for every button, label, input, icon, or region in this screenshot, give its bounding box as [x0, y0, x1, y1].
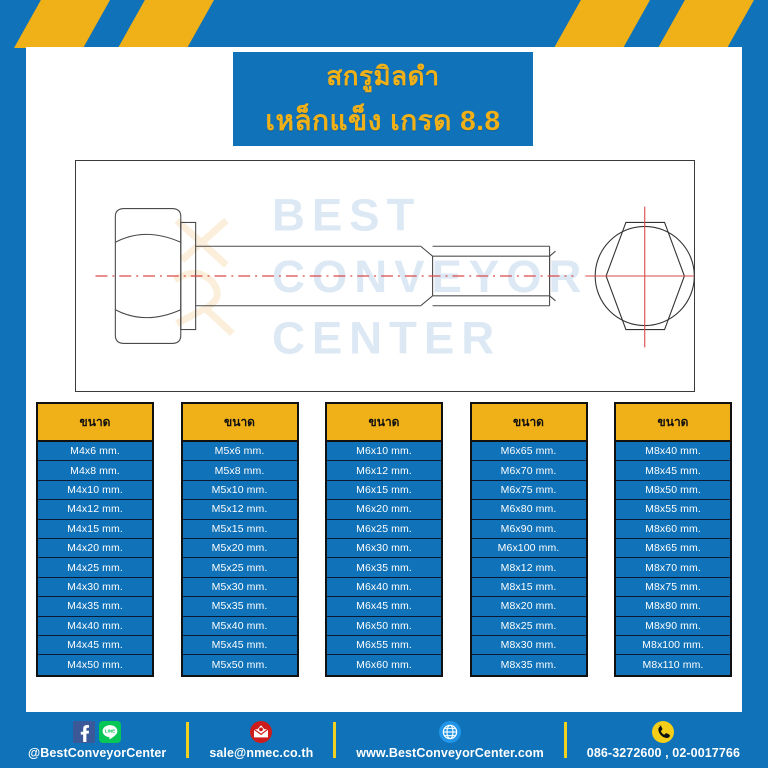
svg-text:LINE: LINE: [105, 728, 115, 733]
size-cell[interactable]: M6x25 mm.: [327, 520, 441, 539]
globe-icon[interactable]: [438, 720, 462, 744]
svg-text:CENTER: CENTER: [272, 312, 501, 363]
size-cell[interactable]: M5x10 mm.: [183, 481, 297, 500]
size-cell[interactable]: M5x8 mm.: [183, 461, 297, 480]
email-address-label[interactable]: sale@nmec.co.th: [209, 746, 313, 760]
size-cell[interactable]: M5x25 mm.: [183, 558, 297, 577]
size-cell[interactable]: M6x12 mm.: [327, 461, 441, 480]
size-table-4: ขนาด M6x65 mm. M6x70 mm. M6x75 mm. M6x80…: [470, 402, 588, 677]
column-header: ขนาด: [470, 402, 588, 442]
size-cell[interactable]: M8x70 mm.: [616, 558, 730, 577]
size-cell[interactable]: M8x60 mm.: [616, 520, 730, 539]
size-table-5: ขนาด M8x40 mm. M8x45 mm. M8x50 mm. M8x55…: [614, 402, 732, 677]
size-cell[interactable]: M6x55 mm.: [327, 636, 441, 655]
size-cell[interactable]: M6x40 mm.: [327, 578, 441, 597]
size-cell[interactable]: M6x75 mm.: [472, 481, 586, 500]
facebook-icon[interactable]: [73, 721, 95, 743]
chevron-stripe-top-left-2: [118, 0, 214, 48]
size-cell[interactable]: M5x30 mm.: [183, 578, 297, 597]
size-cell[interactable]: M4x30 mm.: [38, 578, 152, 597]
chevron-stripe-top-right-2: [554, 0, 650, 48]
size-cell[interactable]: M4x6 mm.: [38, 442, 152, 461]
size-cell[interactable]: M8x15 mm.: [472, 578, 586, 597]
title-banner: สกรูมิลดำ เหล็กแข็ง เกรด 8.8: [233, 52, 533, 146]
size-cell[interactable]: M4x50 mm.: [38, 655, 152, 674]
size-cell[interactable]: M6x90 mm.: [472, 520, 586, 539]
size-cell[interactable]: M5x35 mm.: [183, 597, 297, 616]
size-table-1: ขนาด M4x6 mm. M4x8 mm. M4x10 mm. M4x12 m…: [36, 402, 154, 677]
page-title-line1: สกรูมิลดำ: [326, 56, 439, 97]
footer-social-group: LINE @BestConveyorCenter: [8, 720, 186, 760]
phone-icon[interactable]: [651, 720, 675, 744]
size-cell[interactable]: M5x45 mm.: [183, 636, 297, 655]
footer-phone-group: 086-3272600 , 02-0017766: [567, 720, 760, 760]
size-cell[interactable]: M8x35 mm.: [472, 655, 586, 674]
size-cell[interactable]: M5x12 mm.: [183, 500, 297, 519]
column-header: ขนาด: [614, 402, 732, 442]
size-cell[interactable]: M4x25 mm.: [38, 558, 152, 577]
size-cell[interactable]: M8x100 mm.: [616, 636, 730, 655]
size-cell[interactable]: M5x15 mm.: [183, 520, 297, 539]
size-cell[interactable]: M6x70 mm.: [472, 461, 586, 480]
size-cell[interactable]: M4x45 mm.: [38, 636, 152, 655]
logo-watermark: [175, 220, 233, 333]
size-cell[interactable]: M8x50 mm.: [616, 481, 730, 500]
size-cell[interactable]: M6x30 mm.: [327, 539, 441, 558]
chevron-stripe-top-left-1: [14, 0, 110, 48]
size-cell[interactable]: M5x20 mm.: [183, 539, 297, 558]
facebook-handle-label[interactable]: @BestConveyorCenter: [28, 746, 166, 760]
size-cell[interactable]: M6x60 mm.: [327, 655, 441, 674]
size-cell[interactable]: M6x80 mm.: [472, 500, 586, 519]
size-cell[interactable]: M8x25 mm.: [472, 617, 586, 636]
size-cell[interactable]: M4x8 mm.: [38, 461, 152, 480]
size-cell[interactable]: M8x75 mm.: [616, 578, 730, 597]
column-body: M5x6 mm. M5x8 mm. M5x10 mm. M5x12 mm. M5…: [181, 442, 299, 677]
size-cell[interactable]: M5x6 mm.: [183, 442, 297, 461]
column-body: M6x65 mm. M6x70 mm. M6x75 mm. M6x80 mm. …: [470, 442, 588, 677]
size-cell[interactable]: M6x100 mm.: [472, 539, 586, 558]
technical-drawing-frame: BEST CONVEYOR CENTER: [75, 160, 695, 392]
website-url-label[interactable]: www.BestConveyorCenter.com: [356, 746, 544, 760]
size-cell[interactable]: M6x50 mm.: [327, 617, 441, 636]
phone-number-label[interactable]: 086-3272600 , 02-0017766: [587, 746, 740, 760]
size-tables: ขนาด M4x6 mm. M4x8 mm. M4x10 mm. M4x12 m…: [36, 402, 732, 677]
column-body: M4x6 mm. M4x8 mm. M4x10 mm. M4x12 mm. M4…: [36, 442, 154, 677]
size-cell[interactable]: M8x90 mm.: [616, 617, 730, 636]
column-header: ขนาด: [181, 402, 299, 442]
size-cell[interactable]: M8x12 mm.: [472, 558, 586, 577]
size-cell[interactable]: M8x40 mm.: [616, 442, 730, 461]
column-body: M8x40 mm. M8x45 mm. M8x50 mm. M8x55 mm. …: [614, 442, 732, 677]
footer-website-group: www.BestConveyorCenter.com: [336, 720, 564, 760]
size-cell[interactable]: M4x40 mm.: [38, 617, 152, 636]
contact-footer: LINE @BestConveyorCenter: [0, 712, 768, 768]
svg-text:BEST: BEST: [272, 189, 421, 240]
size-table-3: ขนาด M6x10 mm. M6x12 mm. M6x15 mm. M6x20…: [325, 402, 443, 677]
chevron-stripe-top-right-1: [658, 0, 754, 48]
size-cell[interactable]: M4x12 mm.: [38, 500, 152, 519]
size-cell[interactable]: M4x10 mm.: [38, 481, 152, 500]
size-cell[interactable]: M6x20 mm.: [327, 500, 441, 519]
size-cell[interactable]: M6x45 mm.: [327, 597, 441, 616]
size-cell[interactable]: M8x55 mm.: [616, 500, 730, 519]
size-cell[interactable]: M4x20 mm.: [38, 539, 152, 558]
column-header: ขนาด: [36, 402, 154, 442]
size-cell[interactable]: M4x35 mm.: [38, 597, 152, 616]
size-cell[interactable]: M5x40 mm.: [183, 617, 297, 636]
size-cell[interactable]: M6x10 mm.: [327, 442, 441, 461]
size-cell[interactable]: M8x65 mm.: [616, 539, 730, 558]
size-cell[interactable]: M6x35 mm.: [327, 558, 441, 577]
size-cell[interactable]: M8x20 mm.: [472, 597, 586, 616]
size-cell[interactable]: M6x65 mm.: [472, 442, 586, 461]
column-body: M6x10 mm. M6x12 mm. M6x15 mm. M6x20 mm. …: [325, 442, 443, 677]
product-spec-sheet: สกรูมิลดำ เหล็กแข็ง เกรด 8.8 BEST CONVEY…: [0, 0, 768, 768]
size-cell[interactable]: M8x110 mm.: [616, 655, 730, 674]
content-sheet: สกรูมิลดำ เหล็กแข็ง เกรด 8.8 BEST CONVEY…: [26, 47, 742, 712]
size-cell[interactable]: M8x30 mm.: [472, 636, 586, 655]
column-header: ขนาด: [325, 402, 443, 442]
page-title-line2: เหล็กแข็ง เกรด 8.8: [265, 99, 500, 143]
footer-email-group: sale@nmec.co.th: [189, 720, 333, 760]
size-cell[interactable]: M4x15 mm.: [38, 520, 152, 539]
size-cell[interactable]: M8x80 mm.: [616, 597, 730, 616]
size-cell[interactable]: M6x15 mm.: [327, 481, 441, 500]
line-icon[interactable]: LINE: [99, 721, 121, 743]
size-cell[interactable]: M5x50 mm.: [183, 655, 297, 674]
size-cell[interactable]: M8x45 mm.: [616, 461, 730, 480]
email-icon[interactable]: [249, 720, 273, 744]
size-table-2: ขนาด M5x6 mm. M5x8 mm. M5x10 mm. M5x12 m…: [181, 402, 299, 677]
